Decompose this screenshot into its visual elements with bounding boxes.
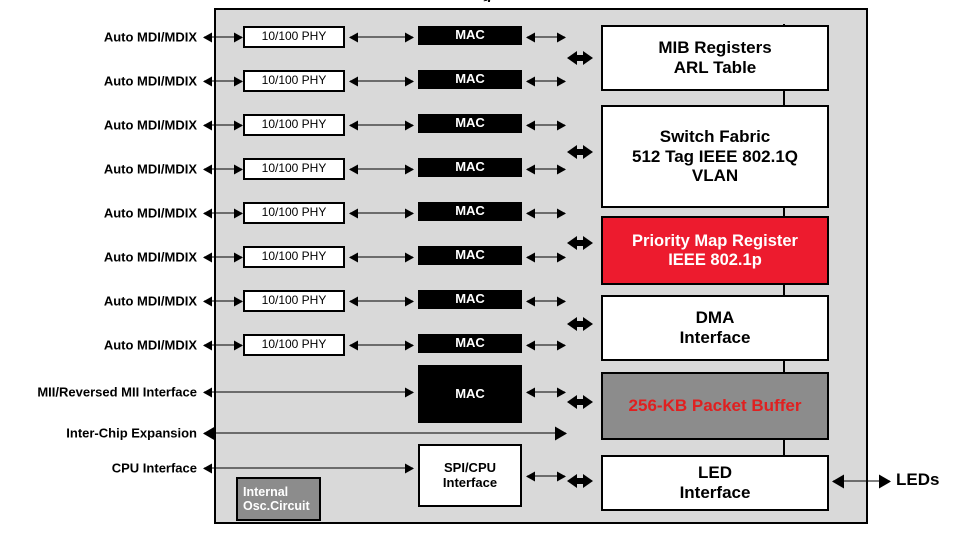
mac-label: MAC	[455, 292, 485, 307]
mac-block-2[interactable]: MAC	[418, 70, 522, 89]
block-line-2: Interface	[680, 328, 751, 348]
block-line-1: SPI/CPU	[444, 461, 496, 476]
port-label-auto-mdi-mdix-2: Auto MDI/MDIX	[104, 74, 197, 89]
arrow-mac-to-bus-8	[527, 345, 565, 346]
block-line-2: ARL Table	[674, 58, 757, 78]
block-line-3: VLAN	[692, 166, 738, 186]
port-label-auto-mdi-mdix-1: Auto MDI/MDIX	[104, 30, 197, 45]
arrow-port-to-phy-4	[204, 169, 242, 170]
block-line-1: LED	[698, 463, 732, 483]
arrow-phy-to-mac-7	[350, 301, 413, 302]
bus-connector-priority-map-icon	[567, 233, 593, 253]
block-line-2: 512 Tag IEEE 802.1Q	[632, 147, 798, 167]
arrow-port-to-phy-2	[204, 81, 242, 82]
phy-label: 10/100 PHY	[262, 74, 327, 88]
arrow-port-to-phy-7	[204, 301, 242, 302]
arrow-port-to-phy-1	[204, 37, 242, 38]
cropped-title-fragment: g	[482, 0, 542, 2]
mac-label: MAC	[455, 72, 485, 87]
block-mib-registers-arl-table[interactable]: MIB Registers ARL Table	[601, 25, 829, 91]
mac-label: MAC	[455, 248, 485, 263]
port-label-auto-mdi-mdix-3: Auto MDI/MDIX	[104, 118, 197, 133]
bus-connector-packet-buffer-icon	[567, 392, 593, 412]
mac-block-4[interactable]: MAC	[418, 158, 522, 177]
phy-block-1[interactable]: 10/100 PHY	[243, 26, 345, 48]
mac-label: MAC	[455, 336, 485, 351]
arrow-mii-to-mac	[204, 392, 413, 393]
port-label-mii-reversed-mii-interface: MII/Reversed MII Interface	[37, 385, 197, 400]
mac-block-7[interactable]: MAC	[418, 290, 522, 309]
arrow-mac-to-bus-1	[527, 37, 565, 38]
mac-label: MAC	[455, 204, 485, 219]
block-line-1: Switch Fabric	[660, 127, 771, 147]
block-line-2: IEEE 802.1p	[668, 251, 762, 270]
arrow-mac-to-bus-5	[527, 213, 565, 214]
block-line-2: Osc.Circuit	[243, 499, 310, 513]
block-line-1: Internal	[243, 485, 288, 499]
port-label-auto-mdi-mdix-4: Auto MDI/MDIX	[104, 162, 197, 177]
block-line-1: MIB Registers	[658, 38, 771, 58]
block-spi-cpu-interface[interactable]: SPI/CPU Interface	[418, 444, 522, 507]
arrow-phy-to-mac-3	[350, 125, 413, 126]
phy-block-5[interactable]: 10/100 PHY	[243, 202, 345, 224]
phy-block-8[interactable]: 10/100 PHY	[243, 334, 345, 356]
block-line-1: 256-KB Packet Buffer	[629, 396, 802, 416]
arrow-phy-to-mac-2	[350, 81, 413, 82]
arrow-port-to-phy-3	[204, 125, 242, 126]
arrow-phy-to-mac-8	[350, 345, 413, 346]
arrow-phy-to-mac-6	[350, 257, 413, 258]
arrow-port-to-phy-8	[204, 345, 242, 346]
mac-block-5[interactable]: MAC	[418, 202, 522, 221]
port-label-auto-mdi-mdix-8: Auto MDI/MDIX	[104, 338, 197, 353]
block-line-2: Interface	[443, 476, 497, 491]
phy-label: 10/100 PHY	[262, 294, 327, 308]
block-internal-osc-circuit[interactable]: Internal Osc.Circuit	[236, 477, 321, 521]
phy-block-2[interactable]: 10/100 PHY	[243, 70, 345, 92]
arrow-spi-to-bus	[527, 476, 565, 477]
block-led-interface[interactable]: LED Interface	[601, 455, 829, 511]
phy-label: 10/100 PHY	[262, 250, 327, 264]
bus-connector-switch-fabric-icon	[567, 142, 593, 162]
port-label-auto-mdi-mdix-7: Auto MDI/MDIX	[104, 294, 197, 309]
block-line-1: DMA	[696, 308, 735, 328]
arrow-cpu-to-spi	[204, 468, 413, 469]
block-line-1: Priority Map Register	[632, 232, 798, 251]
phy-block-6[interactable]: 10/100 PHY	[243, 246, 345, 268]
mac-label: MAC	[455, 387, 485, 402]
phy-block-7[interactable]: 10/100 PHY	[243, 290, 345, 312]
phy-label: 10/100 PHY	[262, 206, 327, 220]
mac-block-1[interactable]: MAC	[418, 26, 522, 45]
port-label-auto-mdi-mdix-6: Auto MDI/MDIX	[104, 250, 197, 265]
block-line-2: Interface	[680, 483, 751, 503]
label-leds: LEDs	[896, 470, 939, 490]
arrow-mac-big-to-bus	[527, 392, 565, 393]
arrow-mac-to-bus-4	[527, 169, 565, 170]
block-packet-buffer[interactable]: 256-KB Packet Buffer	[601, 372, 829, 440]
arrow-mac-to-bus-2	[527, 81, 565, 82]
arrow-phy-to-mac-1	[350, 37, 413, 38]
block-diagram-canvas: g Auto MDI/MDIX Auto MDI/MDIX Auto MDI/M…	[0, 0, 954, 540]
arrow-mac-to-bus-3	[527, 125, 565, 126]
mac-label: MAC	[455, 160, 485, 175]
port-label-cpu-interface: CPU Interface	[112, 461, 197, 476]
mac-block-8[interactable]: MAC	[418, 334, 522, 353]
phy-label: 10/100 PHY	[262, 162, 327, 176]
block-priority-map-register[interactable]: Priority Map Register IEEE 802.1p	[601, 216, 829, 285]
mac-block-6[interactable]: MAC	[418, 246, 522, 265]
arrow-port-to-phy-6	[204, 257, 242, 258]
bus-connector-mib-icon	[567, 48, 593, 68]
mac-label: MAC	[455, 28, 485, 43]
bus-connector-led-icon	[567, 471, 593, 491]
phy-label: 10/100 PHY	[262, 30, 327, 44]
phy-label: 10/100 PHY	[262, 118, 327, 132]
phy-label: 10/100 PHY	[262, 338, 327, 352]
phy-block-4[interactable]: 10/100 PHY	[243, 158, 345, 180]
arrow-phy-to-mac-5	[350, 213, 413, 214]
arrow-mac-to-bus-7	[527, 301, 565, 302]
port-label-auto-mdi-mdix-5: Auto MDI/MDIX	[104, 206, 197, 221]
port-label-inter-chip-expansion: Inter-Chip Expansion	[66, 426, 197, 441]
block-dma-interface[interactable]: DMA Interface	[601, 295, 829, 361]
arrow-inter-chip-expansion	[204, 433, 566, 434]
arrow-port-to-phy-5	[204, 213, 242, 214]
arrow-mac-to-bus-6	[527, 257, 565, 258]
mac-block-3[interactable]: MAC	[418, 114, 522, 133]
block-switch-fabric[interactable]: Switch Fabric 512 Tag IEEE 802.1Q VLAN	[601, 105, 829, 208]
bus-connector-dma-icon	[567, 314, 593, 334]
mac-label: MAC	[455, 116, 485, 131]
arrow-led-to-leds	[833, 481, 890, 482]
arrow-phy-to-mac-4	[350, 169, 413, 170]
block-mac-mii[interactable]: MAC	[418, 365, 522, 423]
phy-block-3[interactable]: 10/100 PHY	[243, 114, 345, 136]
